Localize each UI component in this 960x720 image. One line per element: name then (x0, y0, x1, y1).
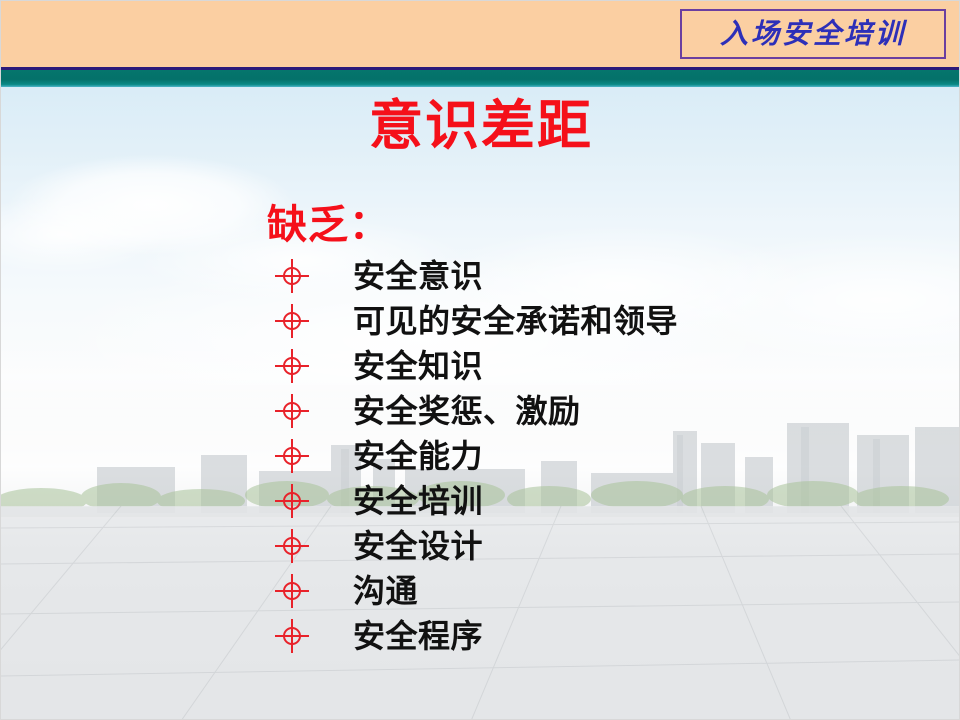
list-item: 安全奖惩、激励 (267, 388, 927, 433)
list-item-label: 安全奖惩、激励 (353, 395, 581, 427)
lead-label: 缺乏： (267, 205, 390, 245)
crosshair-target-icon (275, 349, 309, 383)
presentation-slide: 入场安全培训 意识差距 缺乏： 安全意识 可见的安全承诺和领导 (0, 0, 960, 720)
crosshair-target-icon (275, 619, 309, 653)
crosshair-target-icon (275, 259, 309, 293)
list-item-label: 安全培训 (353, 485, 483, 517)
list-item: 安全意识 (267, 253, 927, 298)
crosshair-target-icon (275, 394, 309, 428)
crosshair-target-icon (275, 529, 309, 563)
list-item-label: 安全设计 (353, 530, 483, 562)
course-badge-label: 入场安全培训 (720, 20, 906, 48)
list-item: 安全设计 (267, 523, 927, 568)
list-item: 安全知识 (267, 343, 927, 388)
list-item-label: 安全知识 (353, 350, 483, 382)
list-item: 可见的安全承诺和领导 (267, 298, 927, 343)
list-item-label: 安全意识 (353, 260, 483, 292)
list-item: 安全程序 (267, 613, 927, 658)
teal-divider-bar (1, 70, 960, 87)
list-item: 安全能力 (267, 433, 927, 478)
slide-title: 意识差距 (1, 98, 960, 155)
list-item: 沟通 (267, 568, 927, 613)
crosshair-target-icon (275, 439, 309, 473)
list-item-label: 安全程序 (353, 620, 483, 652)
list-item-label: 安全能力 (353, 440, 483, 472)
course-badge: 入场安全培训 (680, 9, 946, 59)
list-item-label: 可见的安全承诺和领导 (353, 305, 678, 337)
crosshair-target-icon (275, 484, 309, 518)
list-item-label: 沟通 (353, 575, 418, 607)
crosshair-target-icon (275, 304, 309, 338)
crosshair-target-icon (275, 574, 309, 608)
gap-bullet-list: 安全意识 可见的安全承诺和领导 安全知识 安全奖惩、激励 (267, 253, 927, 658)
list-item: 安全培训 (267, 478, 927, 523)
